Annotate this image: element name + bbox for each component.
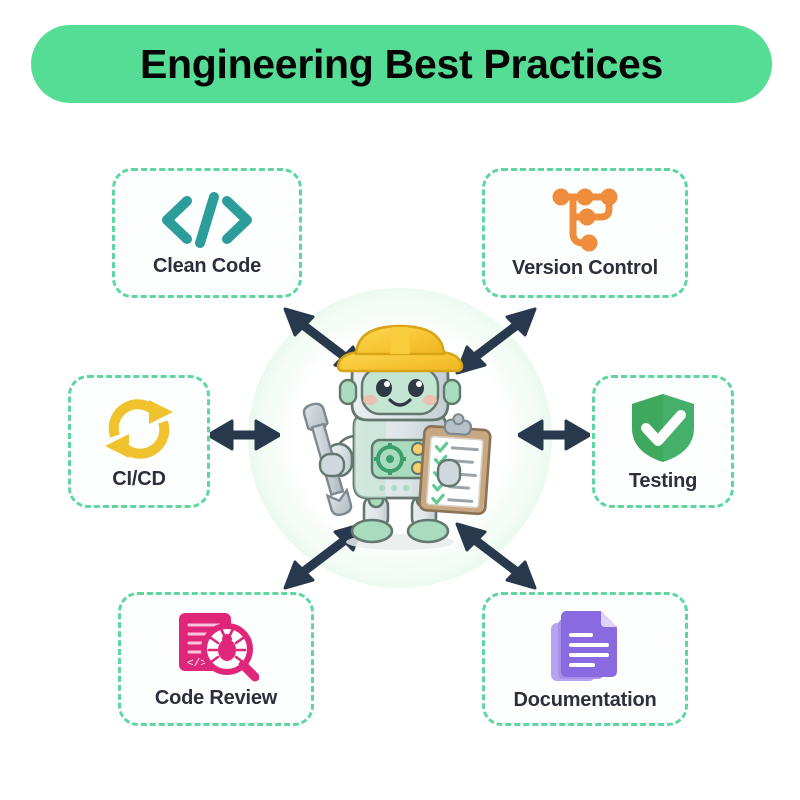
card-documentation[interactable]: Documentation bbox=[482, 592, 688, 726]
card-label-testing: Testing bbox=[629, 470, 697, 493]
arrow-center-to-cicd bbox=[208, 415, 280, 455]
infographic-canvas: Engineering Best Practices bbox=[0, 0, 800, 800]
page-title: Engineering Best Practices bbox=[140, 41, 663, 88]
card-cicd[interactable]: CI/CD bbox=[68, 375, 210, 508]
stacked-documents-icon bbox=[545, 607, 625, 685]
shield-check-icon bbox=[626, 390, 700, 466]
card-testing[interactable]: Testing bbox=[592, 375, 734, 508]
title-banner: Engineering Best Practices bbox=[31, 25, 772, 103]
arrow-center-to-testing bbox=[518, 415, 590, 455]
engineer-robot-mascot bbox=[282, 318, 518, 554]
circular-arrows-icon bbox=[99, 392, 179, 464]
card-label-version-control: Version Control bbox=[512, 257, 658, 280]
card-version-control[interactable]: Version Control bbox=[482, 168, 688, 298]
card-label-cicd: CI/CD bbox=[112, 468, 165, 491]
card-code-review[interactable]: </> Code Review bbox=[118, 592, 314, 726]
card-label-code-review: Code Review bbox=[155, 687, 277, 710]
code-brackets-icon bbox=[159, 189, 255, 251]
bug-magnifier-icon: </> bbox=[173, 609, 259, 683]
git-branch-icon bbox=[547, 187, 623, 253]
card-label-documentation: Documentation bbox=[514, 689, 657, 712]
card-label-clean-code: Clean Code bbox=[153, 255, 261, 278]
card-clean-code[interactable]: Clean Code bbox=[112, 168, 302, 298]
